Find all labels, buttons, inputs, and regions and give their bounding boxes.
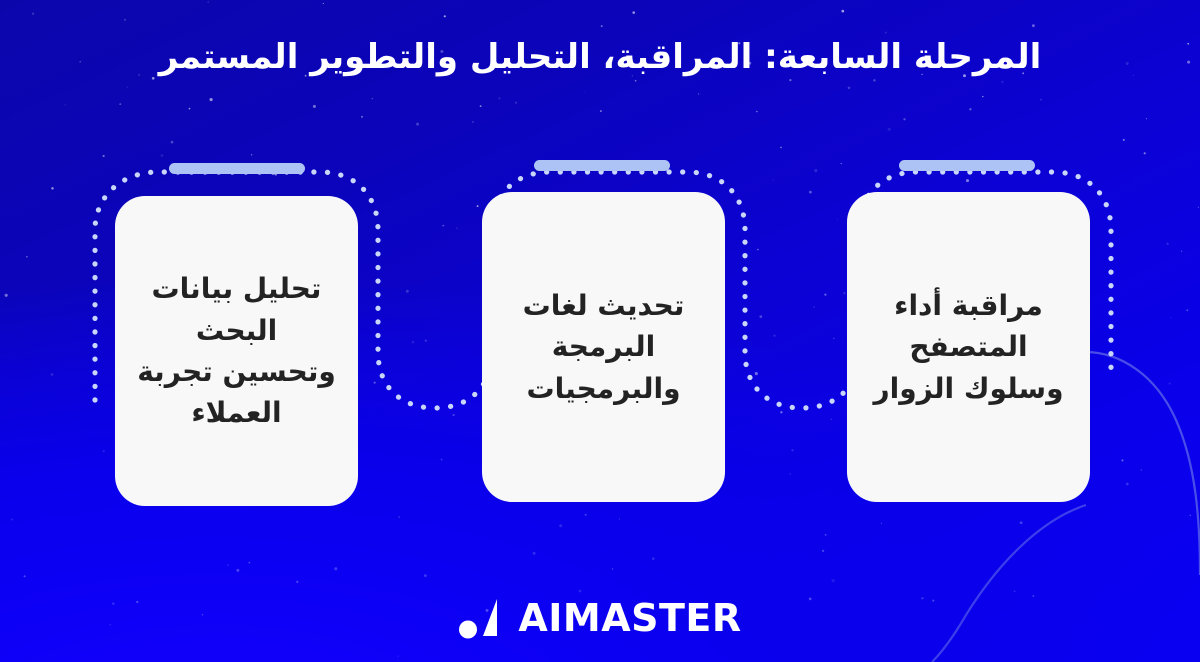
card-tab-1 (169, 163, 305, 174)
slide-canvas: المرحلة السابعة: المراقبة، التحليل والتط… (0, 0, 1200, 662)
content-card-1[interactable]: تحليل بيانات البحث وتحسين تجربة العملاء (115, 196, 358, 506)
content-card-2[interactable]: تحديث لغات البرمجة والبرمجيات (482, 192, 725, 502)
card-tab-3 (899, 160, 1035, 171)
card-2-text: تحديث لغات البرمجة والبرمجيات (502, 285, 705, 409)
aimaster-logo-mark-icon (458, 597, 504, 639)
slide-title: المرحلة السابعة: المراقبة، التحليل والتط… (0, 36, 1200, 79)
aimaster-wordmark: AIMASTER (518, 596, 741, 640)
content-card-3[interactable]: مراقبة أداء المتصفح وسلوك الزوار (847, 192, 1090, 502)
card-1-text: تحليل بيانات البحث وتحسين تجربة العملاء (135, 268, 338, 434)
card-tab-2 (534, 160, 670, 171)
card-3-text: مراقبة أداء المتصفح وسلوك الزوار (867, 285, 1070, 409)
brand-logo: AIMASTER (0, 596, 1200, 640)
